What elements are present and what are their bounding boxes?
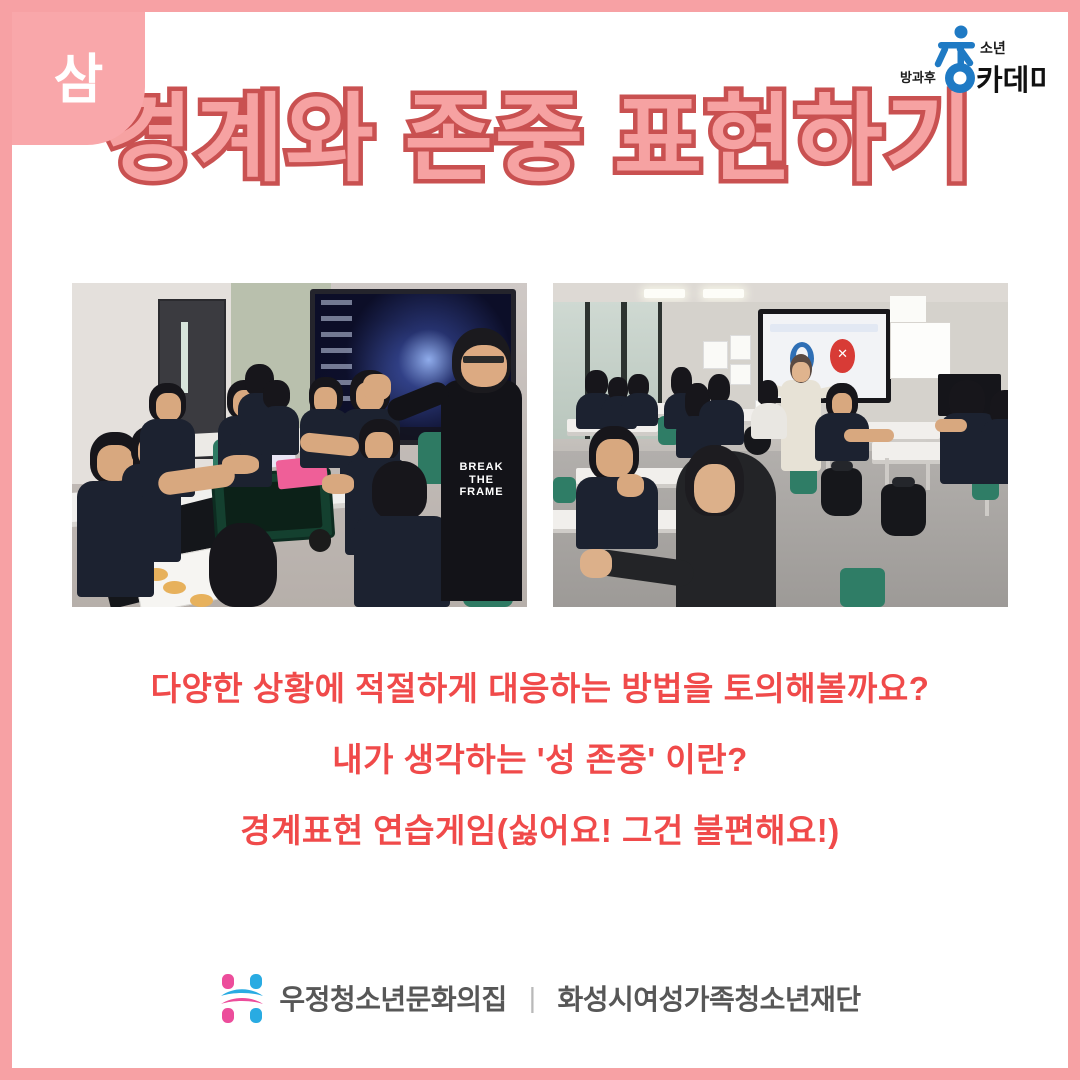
- title-block: 경계와 존중 표현하기: [12, 90, 1068, 191]
- footer-org-secondary: 화성시여성가족청소년재단: [558, 978, 861, 1018]
- photo-gallery: BREAK THE FRAME: [72, 283, 1008, 607]
- classroom-group-activity-photo: BREAK THE FRAME: [72, 283, 527, 607]
- description-line-1: 다양한 상황에 적절하게 대응하는 방법을 토의해볼까요?: [12, 672, 1068, 705]
- foundation-mark-icon: [219, 972, 265, 1024]
- classroom-lecture-photo: ✕: [553, 283, 1008, 607]
- badge-label: 삼: [54, 53, 104, 107]
- page-number-badge: 삼: [12, 12, 145, 145]
- instructor-shirt-text: BREAK THE FRAME: [445, 461, 518, 499]
- poster-root: 삼 소년 방과후 카데미 경계와: [0, 0, 1080, 1080]
- page-title: 경계와 존중 표현하기: [105, 90, 975, 191]
- description-block: 다양한 상황에 적절하게 대응하는 방법을 토의해볼까요? 내가 생각하는 '성…: [12, 672, 1068, 847]
- brand-logo: 소년 방과후 카데미: [898, 20, 1048, 98]
- poster-card: 삼 소년 방과후 카데미 경계와: [12, 12, 1068, 1068]
- footer-org-primary: 우정청소년문화의집: [279, 978, 506, 1018]
- svg-text:카데미: 카데미: [976, 64, 1048, 97]
- footer: 우정청소년문화의집 | 화성시여성가족청소년재단: [12, 972, 1068, 1024]
- footer-separator: |: [521, 982, 544, 1014]
- description-line-3: 경계표현 연습게임(싫어요! 그건 불편해요!): [12, 814, 1068, 847]
- description-line-2: 내가 생각하는 '성 존중' 이란?: [12, 743, 1068, 776]
- svg-text:방과후: 방과후: [900, 70, 936, 85]
- svg-text:소년: 소년: [980, 40, 1006, 56]
